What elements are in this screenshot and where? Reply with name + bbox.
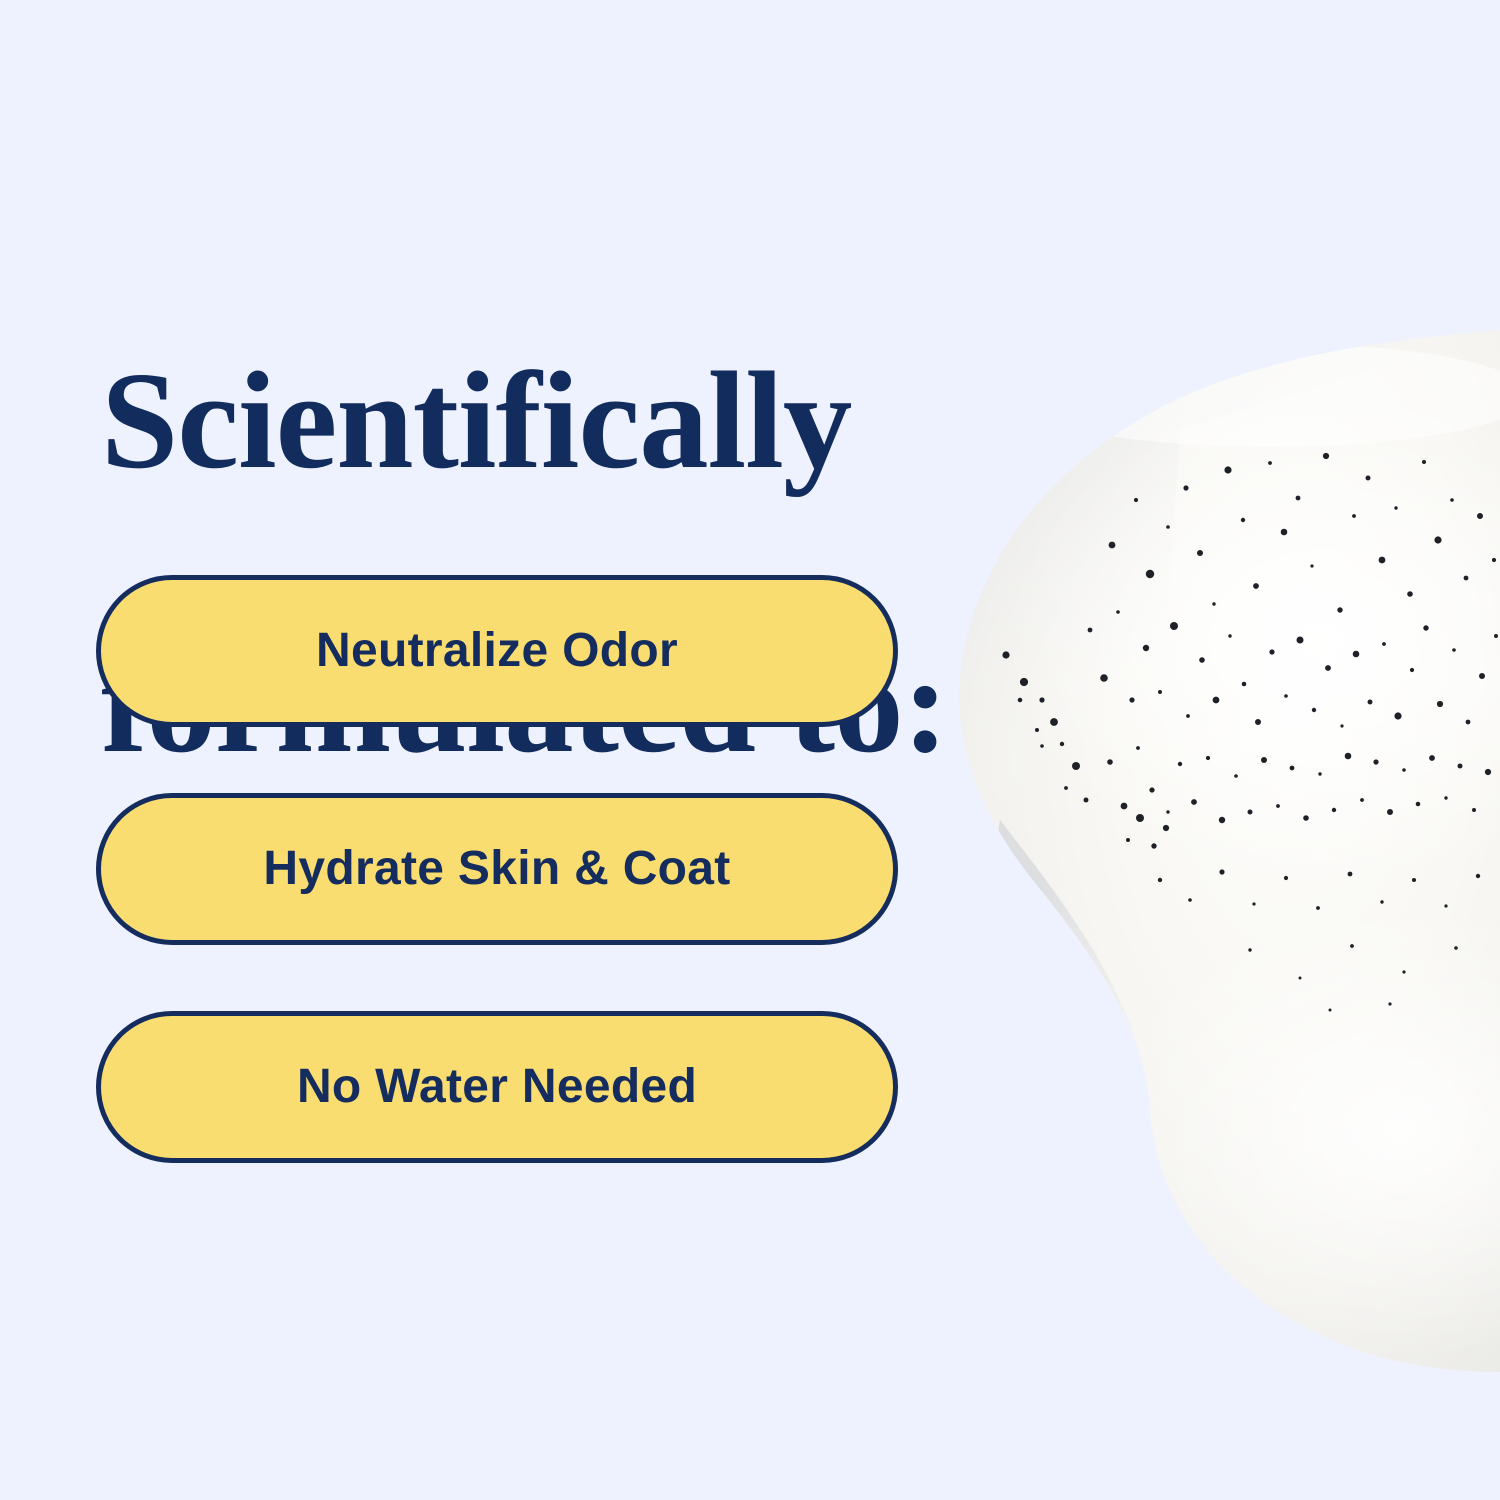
benefit-pill-hydrate-skin-and-coat[interactable]: Hydrate Skin & Coat	[96, 793, 898, 945]
product-benefits-graphic: Scientifically formulated to: Neutralize…	[0, 0, 1500, 1500]
benefit-pill-no-water-needed[interactable]: No Water Needed	[96, 1011, 898, 1163]
benefit-pill-list: Neutralize Odor Hydrate Skin & Coat No W…	[96, 575, 898, 1163]
page-title-line-1: Scientifically	[101, 350, 1001, 492]
blob-body	[959, 330, 1500, 1372]
benefit-pill-neutralize-odor[interactable]: Neutralize Odor	[96, 575, 898, 727]
benefit-pill-label: Neutralize Odor	[316, 627, 678, 675]
benefit-pill-label: Hydrate Skin & Coat	[263, 845, 730, 893]
speckle-cluster	[1002, 453, 1498, 1012]
benefit-pill-label: No Water Needed	[297, 1063, 697, 1111]
